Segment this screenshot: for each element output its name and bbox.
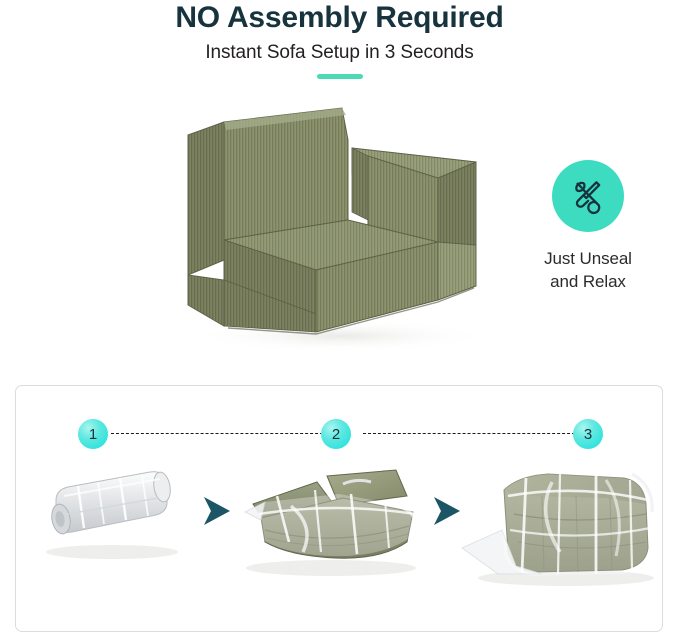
tools-wrench-screwdriver-icon bbox=[567, 173, 609, 220]
badge-circle bbox=[552, 160, 624, 232]
step-indicator-row: 1 2 3 bbox=[16, 419, 664, 449]
step-connector-1-2 bbox=[111, 433, 333, 434]
badge-caption: Just Unseal and Relax bbox=[508, 247, 668, 293]
next-step-arrow bbox=[201, 494, 233, 528]
step-dot-2[interactable]: 2 bbox=[321, 419, 351, 449]
page-subtitle: Instant Sofa Setup in 3 Seconds bbox=[0, 34, 679, 64]
accent-divider bbox=[317, 74, 363, 79]
steps-panel: 1 2 3 bbox=[15, 385, 663, 632]
step-photos-row bbox=[16, 456, 664, 631]
unseal-badge: Just Unseal and Relax bbox=[508, 160, 668, 293]
page-title: NO Assembly Required bbox=[0, 0, 679, 34]
unrolled-flat-sofa-in-plastic bbox=[231, 456, 426, 581]
badge-caption-line-1: Just Unseal bbox=[508, 247, 668, 270]
step-number-2: 2 bbox=[332, 426, 340, 443]
badge-caption-line-2: and Relax bbox=[508, 270, 668, 293]
step-dot-1[interactable]: 1 bbox=[78, 419, 108, 449]
step-number-1: 1 bbox=[89, 426, 97, 443]
hero-sofa-image bbox=[176, 100, 516, 355]
expanded-sofa-in-plastic bbox=[456, 456, 661, 591]
step-connector-2-3 bbox=[363, 433, 585, 434]
header: NO Assembly Required Instant Sofa Setup … bbox=[0, 0, 679, 79]
step-number-3: 3 bbox=[584, 426, 592, 443]
rolled-sofa-in-plastic-wrap bbox=[32, 456, 192, 566]
step-dot-3[interactable]: 3 bbox=[573, 419, 603, 449]
